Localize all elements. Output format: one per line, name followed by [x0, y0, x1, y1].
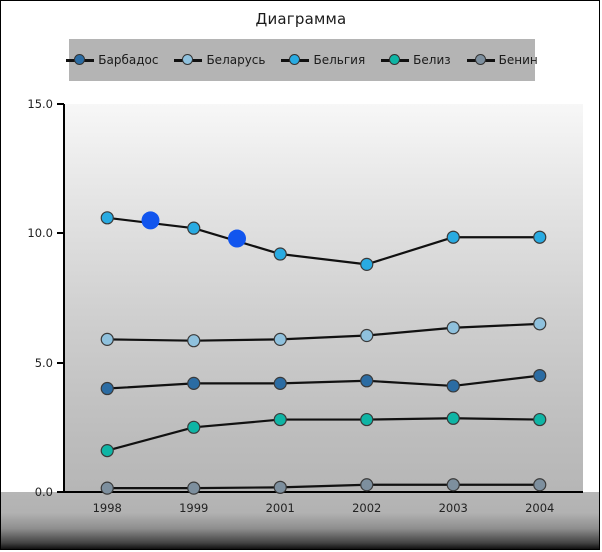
- y-axis-tick: [57, 491, 64, 493]
- legend-marker-icon: [467, 53, 495, 67]
- legend-item[interactable]: Барбадос: [66, 53, 158, 67]
- legend-marker-icon: [174, 53, 202, 67]
- x-axis-label: 2001: [250, 501, 310, 515]
- legend-item[interactable]: Беларусь: [174, 53, 265, 67]
- x-axis-label: 2002: [337, 501, 397, 515]
- x-axis-label: 1999: [164, 501, 224, 515]
- legend-item-label: Барбадос: [98, 53, 158, 67]
- legend-dot-icon: [389, 54, 400, 65]
- page-title: Диаграмма: [1, 10, 600, 28]
- y-axis-tick: [57, 232, 64, 234]
- chart-legend: БарбадосБеларусьБельгияБелизБенин: [69, 39, 535, 81]
- legend-marker-icon: [381, 53, 409, 67]
- legend-dot-icon: [182, 54, 193, 65]
- legend-marker-icon: [281, 53, 309, 67]
- legend-item[interactable]: Белиз: [381, 53, 450, 67]
- y-axis-label: 15.0: [1, 97, 53, 111]
- y-axis-line: [63, 104, 65, 493]
- plot-area: [63, 104, 583, 492]
- legend-item[interactable]: Бенин: [467, 53, 538, 67]
- x-axis-line: [63, 491, 583, 493]
- y-axis-label: 5.0: [1, 356, 53, 370]
- y-axis-tick: [57, 362, 64, 364]
- legend-item[interactable]: Бельгия: [281, 53, 365, 67]
- y-axis-label: 10.0: [1, 226, 53, 240]
- chart-window: Диаграмма БарбадосБеларусьБельгияБелизБе…: [0, 0, 600, 550]
- legend-item-label: Бельгия: [313, 53, 365, 67]
- legend-item-label: Беларусь: [206, 53, 265, 67]
- x-axis-label: 2004: [510, 501, 570, 515]
- x-axis-label: 2003: [423, 501, 483, 515]
- right-gutter: [583, 104, 600, 492]
- legend-dot-icon: [475, 54, 486, 65]
- legend-dot-icon: [74, 54, 85, 65]
- legend-dot-icon: [289, 54, 300, 65]
- legend-item-label: Бенин: [499, 53, 538, 67]
- y-axis-tick: [57, 103, 64, 105]
- left-gutter: [1, 104, 63, 492]
- x-axis-label: 1998: [77, 501, 137, 515]
- legend-marker-icon: [66, 53, 94, 67]
- y-axis-label: 0.0: [1, 485, 53, 499]
- legend-item-label: Белиз: [413, 53, 450, 67]
